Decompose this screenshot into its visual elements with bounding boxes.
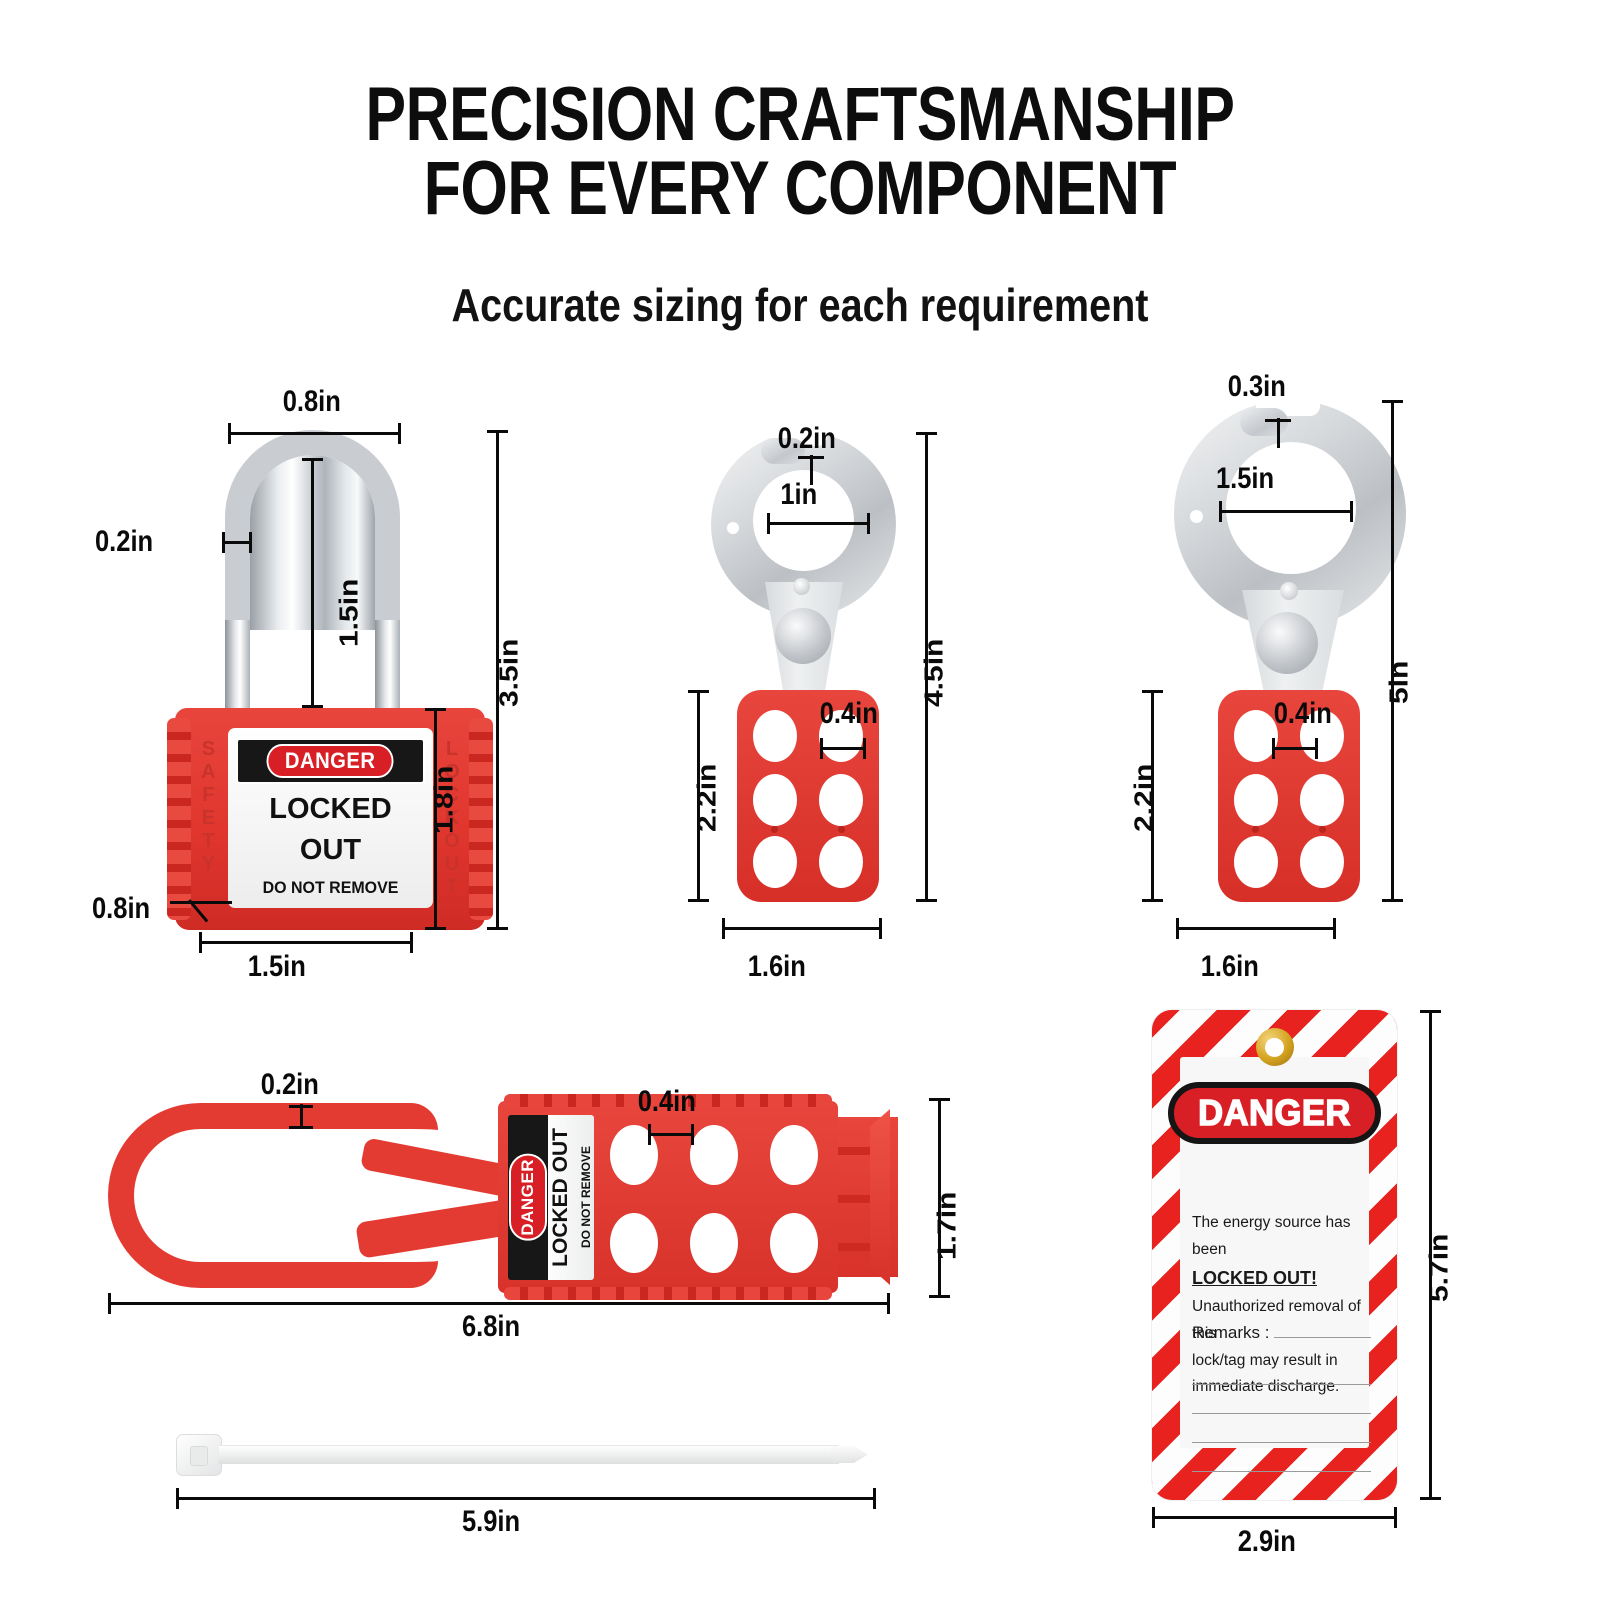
cable-tie-strap xyxy=(219,1445,839,1464)
nylon-lockout-hasp: DANGER LOCKED OUT DO NOT REMOVE xyxy=(108,1095,898,1300)
tag-remarks-rule[interactable] xyxy=(1274,1324,1371,1338)
label-line-1: LOCKED xyxy=(236,794,425,825)
dim-line-body-height xyxy=(434,708,437,930)
dim-line-shackle-width xyxy=(228,432,401,435)
nylon-label-line-2: DO NOT REMOVE xyxy=(579,1146,593,1248)
hasp-dimple xyxy=(838,826,845,833)
nylon-hole xyxy=(610,1213,658,1273)
dim-line-hasp-l-opening xyxy=(1219,510,1353,513)
nylon-hole xyxy=(690,1125,738,1185)
dim-line-hasp-l-body-height xyxy=(1151,690,1154,902)
tag-remarks-row: Remarks : xyxy=(1192,1323,1371,1343)
tag-write-line[interactable] xyxy=(1192,1443,1371,1472)
padlock-grip-right xyxy=(469,718,493,920)
dim-shackle-dia: 0.2in xyxy=(95,525,153,559)
dim-hasp-s-body-width: 1.6in xyxy=(730,950,824,984)
tag-write-lines xyxy=(1192,1356,1371,1472)
danger-pill-label: DANGER xyxy=(267,744,394,778)
jaw-eyelet-left xyxy=(1190,510,1203,523)
dim-hasp-l-body-height: 2.2in xyxy=(1131,722,1160,832)
dim-tick-hasp-s-jaw xyxy=(798,456,824,459)
dim-tick-nylon-dia-top xyxy=(289,1105,313,1108)
dim-tick-nylon-dia-bot xyxy=(289,1126,313,1129)
hasp-dimple xyxy=(1319,826,1326,833)
dim-hasp-s-opening: 1in xyxy=(752,478,846,512)
hasp-hole xyxy=(753,774,797,826)
dim-hasp-l-jaw-thickness: 0.3in xyxy=(1210,370,1304,404)
hasp-hole xyxy=(753,836,797,888)
jaw-rivet xyxy=(793,578,810,595)
dim-line-tag-height xyxy=(1429,1010,1432,1500)
page-subtitle: Accurate sizing for each requirement xyxy=(112,278,1488,332)
hasp-hole xyxy=(753,710,797,762)
hasp-hole xyxy=(1300,774,1344,826)
dim-nylon-total-length: 6.8in xyxy=(440,1310,542,1344)
tag-grommet xyxy=(1256,1028,1294,1066)
dim-hasp-s-jaw-thickness: 0.2in xyxy=(760,422,854,456)
jaw-eyelet-right xyxy=(671,522,683,534)
padlock-side-text-left: SAFETY xyxy=(195,738,221,876)
dim-shackle-width: 0.8in xyxy=(265,385,359,419)
label-line-3: DO NOT REMOVE xyxy=(242,878,420,898)
nylon-danger-pill: DANGER xyxy=(509,1154,547,1241)
padlock-grip-left xyxy=(167,718,191,920)
dim-padlock-total-height: 3.5in xyxy=(496,597,525,707)
grommet-hole xyxy=(1265,1038,1284,1057)
tag-danger-banner: DANGER xyxy=(1168,1082,1381,1144)
nylon-shackle-loop xyxy=(108,1103,438,1288)
jaw-latch-tab xyxy=(1240,408,1288,436)
cable-tie-head xyxy=(176,1434,222,1476)
nylon-label: DANGER LOCKED OUT DO NOT REMOVE xyxy=(508,1115,594,1280)
hasp-hole xyxy=(819,836,863,888)
safety-padlock: SAFETY LOCKOUT DANGER LOCKED OUT DO NOT … xyxy=(175,430,485,930)
dim-hasp-s-hole: 0.4in xyxy=(802,697,896,731)
nylon-label-text: LOCKED OUT DO NOT REMOVE xyxy=(548,1115,594,1280)
dim-line-hasp-s-hole xyxy=(820,747,866,750)
dim-nylon-hole: 0.4in xyxy=(620,1085,714,1119)
dim-line-hasp-s-body-height xyxy=(697,690,700,902)
tag-body-line-1: The energy source has been xyxy=(1192,1210,1371,1263)
dim-line-hasp-l-jaw-thickness xyxy=(1277,418,1280,448)
page-title: PRECISION CRAFTSMANSHIP FOR EVERY COMPON… xyxy=(160,78,1440,227)
dim-line-hasp-l-body-width xyxy=(1176,927,1336,930)
dim-hasp-l-total-height: 5in xyxy=(1386,594,1415,704)
dim-line-cable-tie-length xyxy=(176,1497,876,1500)
tag-danger-label: DANGER xyxy=(1198,1092,1351,1134)
dim-line-nylon-hole xyxy=(648,1133,694,1136)
dim-hasp-l-body-width: 1.6in xyxy=(1183,950,1277,984)
jaw-pivot-pin xyxy=(1256,612,1318,674)
hasp-dimple xyxy=(771,826,778,833)
jaw-pivot-pin xyxy=(775,608,831,664)
nylon-hole xyxy=(690,1213,738,1273)
hasp-hole xyxy=(1234,774,1278,826)
dim-hasp-l-hole: 0.4in xyxy=(1256,697,1350,731)
dim-line-nylon-length xyxy=(108,1302,890,1305)
hasp-hole xyxy=(819,774,863,826)
dim-nylon-shackle-dia: 0.2in xyxy=(243,1068,337,1102)
dim-tag-width: 2.9in xyxy=(1220,1525,1314,1559)
nylon-body: DANGER LOCKED OUT DO NOT REMOVE xyxy=(498,1101,838,1293)
cable-tie-tip xyxy=(831,1446,868,1463)
dim-cable-tie-length: 5.9in xyxy=(440,1505,542,1539)
tag-write-line[interactable] xyxy=(1192,1414,1371,1443)
danger-banner: DANGER xyxy=(236,738,425,784)
dim-line-hasp-l-height xyxy=(1391,400,1394,902)
tag-write-line[interactable] xyxy=(1192,1356,1371,1385)
label-line-2: OUT xyxy=(236,835,425,866)
dim-line-shackle-dia xyxy=(222,541,252,544)
dim-line-hasp-s-body-width xyxy=(722,927,882,930)
dim-line-shackle-clearance xyxy=(311,458,314,708)
lockout-danger-tag: DANGER The energy source has been LOCKED… xyxy=(1152,1010,1397,1500)
dim-line-hasp-l-hole xyxy=(1272,747,1318,750)
hasp-hole xyxy=(1300,836,1344,888)
hasp-dimple xyxy=(1252,826,1259,833)
nylon-hole xyxy=(770,1125,818,1185)
dim-shackle-clearance: 1.5in xyxy=(336,537,365,647)
dim-line-tag-width xyxy=(1152,1516,1397,1519)
hasp-hole xyxy=(1234,836,1278,888)
dim-padlock-depth: 0.8in xyxy=(92,892,150,926)
headline-line-2: FOR EVERY COMPONENT xyxy=(160,152,1440,226)
cable-tie-eye xyxy=(190,1446,208,1466)
padlock-label: DANGER LOCKED OUT DO NOT REMOVE xyxy=(228,728,433,908)
jaw-eyelet-right xyxy=(1137,510,1150,523)
nylon-hole xyxy=(770,1213,818,1273)
dim-line-hasp-s-height xyxy=(925,432,928,902)
dim-line-body-width xyxy=(199,941,413,944)
dim-tick-hasp-l-jaw xyxy=(1265,419,1291,422)
tag-write-line[interactable] xyxy=(1192,1385,1371,1414)
dim-padlock-body-width: 1.5in xyxy=(230,950,324,984)
dim-hasp-l-opening: 1.5in xyxy=(1194,462,1296,496)
nylon-hole-group xyxy=(610,1125,818,1273)
dim-line-hasp-s-opening xyxy=(767,522,870,525)
nylon-cable-tie xyxy=(176,1432,868,1478)
nylon-label-line-1: LOCKED OUT xyxy=(549,1128,573,1267)
jaw-eyelet-left xyxy=(727,522,739,534)
dim-line-nylon-body-height xyxy=(938,1098,941,1298)
nylon-danger-banner: DANGER xyxy=(508,1115,548,1280)
jaw-rivet xyxy=(1280,582,1298,600)
nylon-tip xyxy=(870,1109,890,1285)
tag-remarks-label: Remarks : xyxy=(1192,1323,1269,1343)
headline-line-1: PRECISION CRAFTSMANSHIP xyxy=(365,72,1234,157)
leader-depth-h xyxy=(170,901,232,904)
dim-line-padlock-height xyxy=(496,430,499,930)
tag-body-bold: LOCKED OUT! xyxy=(1192,1263,1371,1294)
